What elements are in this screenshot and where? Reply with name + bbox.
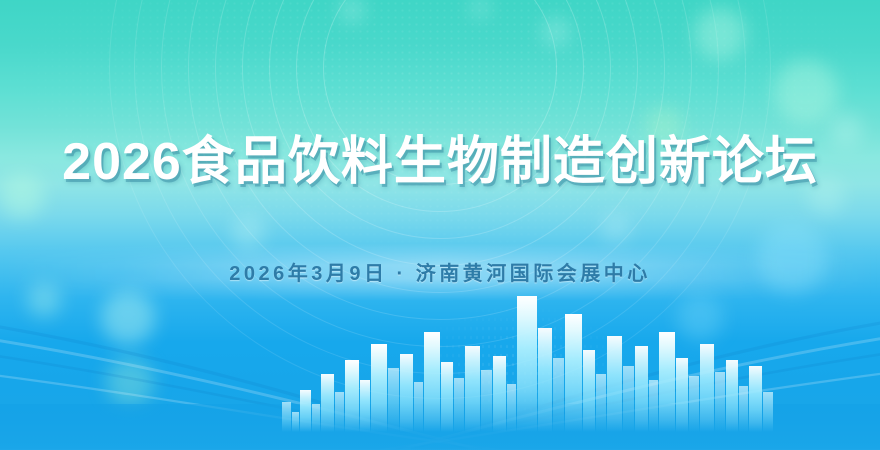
skyline-bar — [649, 380, 658, 432]
skyline-bar — [414, 382, 423, 432]
skyline-bar — [424, 332, 440, 432]
skyline-bar — [715, 372, 725, 432]
skyline-bar — [400, 354, 413, 432]
skyline-bar — [635, 346, 648, 432]
skyline-bar — [607, 336, 622, 432]
skyline-bar — [454, 378, 464, 432]
skyline-bar — [465, 346, 480, 432]
skyline-bar — [517, 296, 537, 432]
skyline-bar — [565, 314, 582, 432]
event-banner: 2026食品饮料生物制造创新论坛 2026年3月9日 · 济南黄河国际会展中心 — [0, 0, 880, 450]
skyline-bar — [335, 392, 344, 432]
skyline-bar — [345, 360, 359, 432]
skyline-bar — [623, 366, 634, 432]
skyline-bar — [763, 392, 773, 432]
skyline-bar — [371, 344, 387, 432]
skyline-bar — [292, 412, 299, 432]
skyline-bar — [388, 368, 399, 432]
skyline-bar — [739, 386, 748, 432]
skyline-bar — [676, 358, 688, 432]
skyline-bar — [507, 384, 516, 432]
skyline-bar — [583, 350, 595, 432]
skyline-bar — [596, 374, 606, 432]
skyline-bar — [321, 374, 334, 432]
skyline-bar — [726, 360, 738, 432]
skyline-bar — [282, 402, 291, 432]
skyline-bar — [553, 358, 564, 432]
bokeh-circle-10 — [774, 60, 838, 124]
skyline-bar — [481, 370, 492, 432]
event-date-venue: 2026年3月9日 · 济南黄河国际会展中心 — [0, 264, 880, 284]
skyline-bar — [700, 344, 714, 432]
skyline-bar — [493, 356, 506, 432]
skyline-bar — [689, 376, 699, 432]
skyline-bar — [300, 390, 311, 432]
skyline-bar — [360, 380, 370, 432]
skyline-bar — [749, 366, 762, 432]
skyline-bar — [312, 404, 320, 432]
skyline-bar — [538, 328, 552, 432]
skyline-bar — [441, 362, 453, 432]
page-title: 2026食品饮料生物制造创新论坛 — [0, 136, 880, 188]
skyline-bar — [659, 332, 675, 432]
